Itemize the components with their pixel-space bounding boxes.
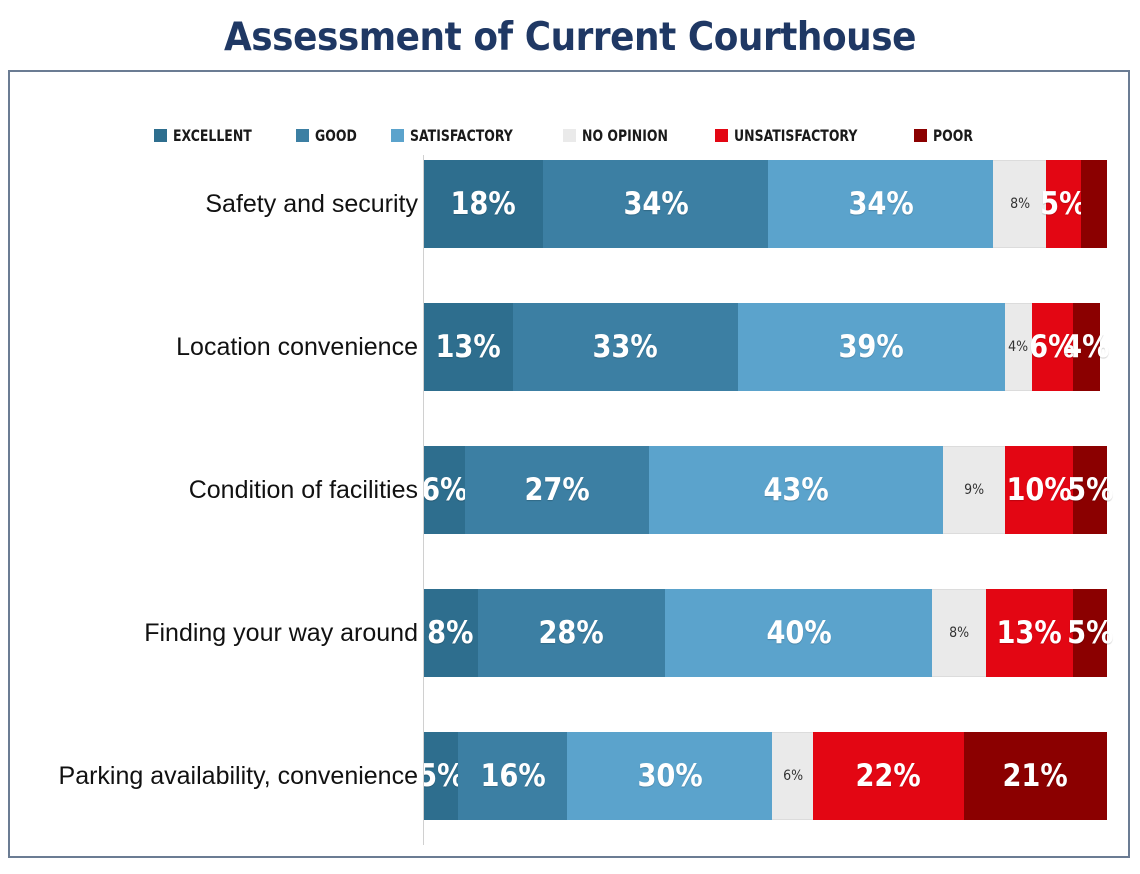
bar-segment[interactable]: 34% [768, 160, 993, 248]
bar-segment[interactable]: 8% [993, 160, 1046, 248]
bar-segment-value: 21% [1003, 761, 1068, 792]
category-label: Location convenience [18, 332, 418, 362]
stacked-bar: 13%33%39%4%6%4% [424, 303, 1107, 391]
legend-item-label: POOR [933, 126, 973, 145]
bar-row: 8%28%40%8%13%5% [424, 589, 1140, 677]
legend-swatch-icon [296, 129, 309, 142]
category-axis-labels: Safety and securityLocation convenienceC… [10, 155, 418, 845]
legend-swatch-icon [563, 129, 576, 142]
bar-segment-value: 9% [964, 483, 984, 497]
bar-segment[interactable]: 22% [813, 732, 963, 820]
legend-item[interactable]: GOOD [296, 126, 369, 145]
bar-segment-value: 33% [593, 332, 658, 363]
page-title: Assessment of Current Courthouse [46, 14, 1095, 62]
bar-segment-value: 34% [848, 189, 913, 220]
chart-legend: EXCELLENTGOODSATISFACTORYNO OPINIONUNSAT… [8, 120, 1130, 150]
bar-segment-value: 27% [525, 475, 590, 506]
bar-segment[interactable]: 27% [465, 446, 649, 534]
bar-segment[interactable]: 4% [1073, 303, 1100, 391]
bar-segment-value: 43% [764, 475, 829, 506]
bar-segment-value: 28% [538, 618, 603, 649]
stacked-bar: 5%16%30%6%22%21% [424, 732, 1107, 820]
bar-segment[interactable]: 6% [424, 446, 465, 534]
bar-segment-value: 13% [997, 618, 1062, 649]
legend-item[interactable]: NO OPINION [563, 126, 692, 145]
bar-segment-value: 16% [480, 761, 545, 792]
bar-segment[interactable]: 18% [424, 160, 543, 248]
bar-segment[interactable]: 21% [964, 732, 1107, 820]
bar-segment-value: 13% [436, 332, 501, 363]
bar-segment-value: 40% [766, 618, 831, 649]
bar-segment[interactable]: 5% [1073, 446, 1107, 534]
bar-segment-value: 8% [949, 626, 969, 640]
bar-row: 18%34%34%8%5% [424, 160, 1140, 248]
bar-segment[interactable]: 28% [478, 589, 665, 677]
bar-segment-value: 18% [451, 189, 516, 220]
bar-segment[interactable]: 13% [986, 589, 1073, 677]
bar-segment-value: 4% [1063, 332, 1109, 363]
bar-segment-value: 5% [1067, 618, 1113, 649]
bar-segment-value: 10% [1006, 475, 1071, 506]
bar-segment-value: 5% [1067, 475, 1113, 506]
bar-segment-value: 6% [424, 475, 468, 506]
bar-segment-value: 8% [428, 618, 474, 649]
legend-swatch-icon [391, 129, 404, 142]
legend-item-label: UNSATISFACTORY [734, 126, 857, 145]
legend-swatch-icon [154, 129, 167, 142]
bar-row: 5%16%30%6%22%21% [424, 732, 1140, 820]
bar-segment-value: 8% [1010, 197, 1030, 211]
bar-segment[interactable]: 10% [1005, 446, 1073, 534]
category-label: Condition of facilities [18, 475, 418, 505]
category-label: Finding your way around [18, 618, 418, 648]
bar-segment[interactable]: 5% [1046, 160, 1080, 248]
bar-segment-value: 6% [783, 769, 803, 783]
legend-item-label: EXCELLENT [173, 126, 252, 145]
bar-segment[interactable]: 43% [649, 446, 943, 534]
bar-segment-value: 4% [1008, 340, 1028, 354]
bar-segment[interactable]: 33% [513, 303, 738, 391]
bar-segment[interactable]: 4% [1005, 303, 1032, 391]
bar-segment[interactable]: 6% [772, 732, 813, 820]
category-label: Safety and security [18, 189, 418, 219]
bar-segment[interactable]: 9% [943, 446, 1004, 534]
bar-segment[interactable]: 34% [543, 160, 768, 248]
legend-swatch-icon [715, 129, 728, 142]
legend-item-label: NO OPINION [582, 126, 668, 145]
bar-segment-value: 39% [839, 332, 904, 363]
bar-segment[interactable]: 40% [665, 589, 933, 677]
bar-segment[interactable] [1081, 160, 1107, 248]
plot-area: 18%34%34%8%5%13%33%39%4%6%4%6%27%43%9%10… [423, 155, 1140, 845]
legend-item[interactable]: SATISFACTORY [391, 126, 542, 145]
legend-swatch-icon [914, 129, 927, 142]
bar-segment[interactable]: 16% [458, 732, 567, 820]
legend-item-label: GOOD [315, 126, 357, 145]
bar-segment[interactable]: 13% [424, 303, 513, 391]
bar-segment-value: 34% [623, 189, 688, 220]
legend-item[interactable]: EXCELLENT [154, 126, 274, 145]
stacked-bar: 8%28%40%8%13%5% [424, 589, 1107, 677]
bar-segment-value: 22% [856, 761, 921, 792]
bar-segment-value: 30% [637, 761, 702, 792]
legend-item[interactable]: UNSATISFACTORY [715, 126, 892, 145]
bar-segment[interactable]: 8% [424, 589, 478, 677]
legend-item-label: SATISFACTORY [410, 126, 513, 145]
legend-item[interactable]: POOR [914, 126, 984, 145]
stacked-bar: 18%34%34%8%5% [424, 160, 1107, 248]
stacked-bar: 6%27%43%9%10%5% [424, 446, 1107, 534]
bar-row: 13%33%39%4%6%4% [424, 303, 1140, 391]
bar-segment[interactable]: 5% [1073, 589, 1107, 677]
bar-segment[interactable]: 5% [424, 732, 458, 820]
bar-segment[interactable]: 39% [738, 303, 1004, 391]
category-label: Parking availability, convenience [18, 761, 418, 791]
bar-row: 6%27%43%9%10%5% [424, 446, 1140, 534]
bar-segment[interactable]: 30% [567, 732, 772, 820]
bar-segment[interactable]: 8% [932, 589, 986, 677]
